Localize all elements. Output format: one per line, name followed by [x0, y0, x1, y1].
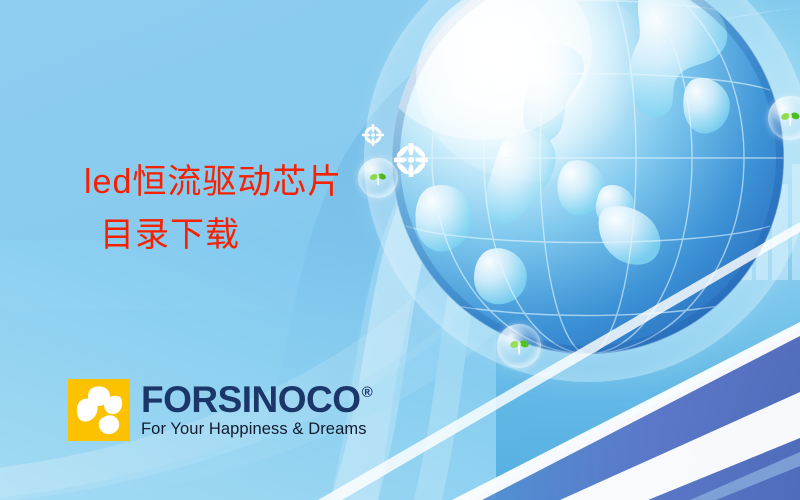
- four-petal-pinwheel-icon: [68, 379, 130, 441]
- bubble-pinwheel-icon: [497, 324, 541, 368]
- brand-name-text: FORSINOCO: [141, 381, 361, 419]
- promo-banner: led恒流驱动芯片 目录下载 FORSINOCO ® For Your Happ…: [0, 0, 800, 500]
- brand-tagline: For Your Happiness & Dreams: [141, 420, 372, 439]
- headline-line-1: led恒流驱动芯片: [84, 160, 424, 205]
- brand-logo[interactable]: FORSINOCO ® For Your Happiness & Dreams: [68, 379, 372, 441]
- daisy-sparkle-icon: [362, 124, 384, 146]
- earth-globe-icon: [392, 0, 784, 354]
- headline-line-2: 目录下载: [84, 213, 424, 258]
- registered-mark: ®: [362, 385, 373, 400]
- page-title: led恒流驱动芯片 目录下载: [84, 160, 424, 258]
- brand-name: FORSINOCO ®: [141, 381, 372, 419]
